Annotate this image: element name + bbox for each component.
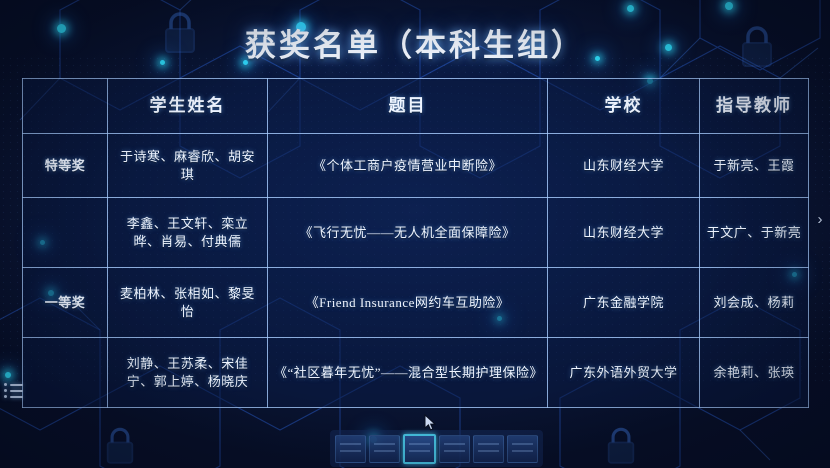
slide-thumbnail[interactable] <box>335 435 366 463</box>
cell-school: 广东外语外贸大学 <box>548 338 700 408</box>
slide-thumbnail[interactable] <box>473 435 504 463</box>
column-header-students: 学生姓名 <box>108 79 268 134</box>
next-slide-button[interactable]: › <box>810 196 830 242</box>
cell-topic: 《飞行无忧——无人机全面保障险》 <box>268 198 548 268</box>
cell-students: 李鑫、王文轩、栾立晔、肖易、付典儒 <box>108 198 268 268</box>
slide-thumbnail[interactable] <box>507 435 538 463</box>
cell-school: 山东财经大学 <box>548 198 700 268</box>
cell-teachers: 于文广、于新亮 <box>700 198 809 268</box>
cell-students: 麦柏林、张相如、黎旻怡 <box>108 268 268 338</box>
cell-award <box>23 338 108 408</box>
column-header-school: 学校 <box>548 79 700 134</box>
table-row: 李鑫、王文轩、栾立晔、肖易、付典儒 《飞行无忧——无人机全面保障险》 山东财经大… <box>23 198 809 268</box>
column-header-award <box>23 79 108 134</box>
cell-topic: 《个体工商户疫情营业中断险》 <box>268 134 548 198</box>
slide-viewer: 获奖名单（本科生组） 学生姓名 题目 学校 指导教师 特等奖 于诗寒、麻睿欣、胡 <box>0 0 830 468</box>
cell-school: 山东财经大学 <box>548 134 700 198</box>
column-header-teachers: 指导教师 <box>700 79 809 134</box>
cell-teachers: 于新亮、王霞 <box>700 134 809 198</box>
award-table-container: 学生姓名 题目 学校 指导教师 特等奖 于诗寒、麻睿欣、胡安琪 《个体工商户疫情… <box>22 78 808 408</box>
table-row: 一等奖 麦柏林、张相如、黎旻怡 《Friend Insurance网约车互助险》… <box>23 268 809 338</box>
chevron-right-icon: › <box>818 211 823 228</box>
cell-students: 刘静、王苏柔、宋佳宁、郭上婷、杨晓庆 <box>108 338 268 408</box>
cell-award <box>23 198 108 268</box>
column-header-topic: 题目 <box>268 79 548 134</box>
slide-thumbnail-strip[interactable] <box>330 430 543 467</box>
table-row: 刘静、王苏柔、宋佳宁、郭上婷、杨晓庆 《“社区暮年无忧”——混合型长期护理保险》… <box>23 338 809 408</box>
award-table: 学生姓名 题目 学校 指导教师 特等奖 于诗寒、麻睿欣、胡安琪 《个体工商户疫情… <box>22 78 809 408</box>
cell-award: 一等奖 <box>23 268 108 338</box>
cell-topic: 《Friend Insurance网约车互助险》 <box>268 268 548 338</box>
slide-thumbnail[interactable] <box>369 435 400 463</box>
cell-students: 于诗寒、麻睿欣、胡安琪 <box>108 134 268 198</box>
page-title: 获奖名单（本科生组） <box>0 20 830 65</box>
cell-topic: 《“社区暮年无忧”——混合型长期护理保险》 <box>268 338 548 408</box>
slide-thumbnail[interactable] <box>439 435 470 463</box>
slide-thumbnail-active[interactable] <box>403 434 436 464</box>
cell-teachers: 刘会成、杨莉 <box>700 268 809 338</box>
cell-award: 特等奖 <box>23 134 108 198</box>
cell-school: 广东金融学院 <box>548 268 700 338</box>
cell-teachers: 余艳莉、张瑛 <box>700 338 809 408</box>
table-row: 特等奖 于诗寒、麻睿欣、胡安琪 《个体工商户疫情营业中断险》 山东财经大学 于新… <box>23 134 809 198</box>
table-header-row: 学生姓名 题目 学校 指导教师 <box>23 79 809 134</box>
list-icon[interactable] <box>4 381 24 403</box>
